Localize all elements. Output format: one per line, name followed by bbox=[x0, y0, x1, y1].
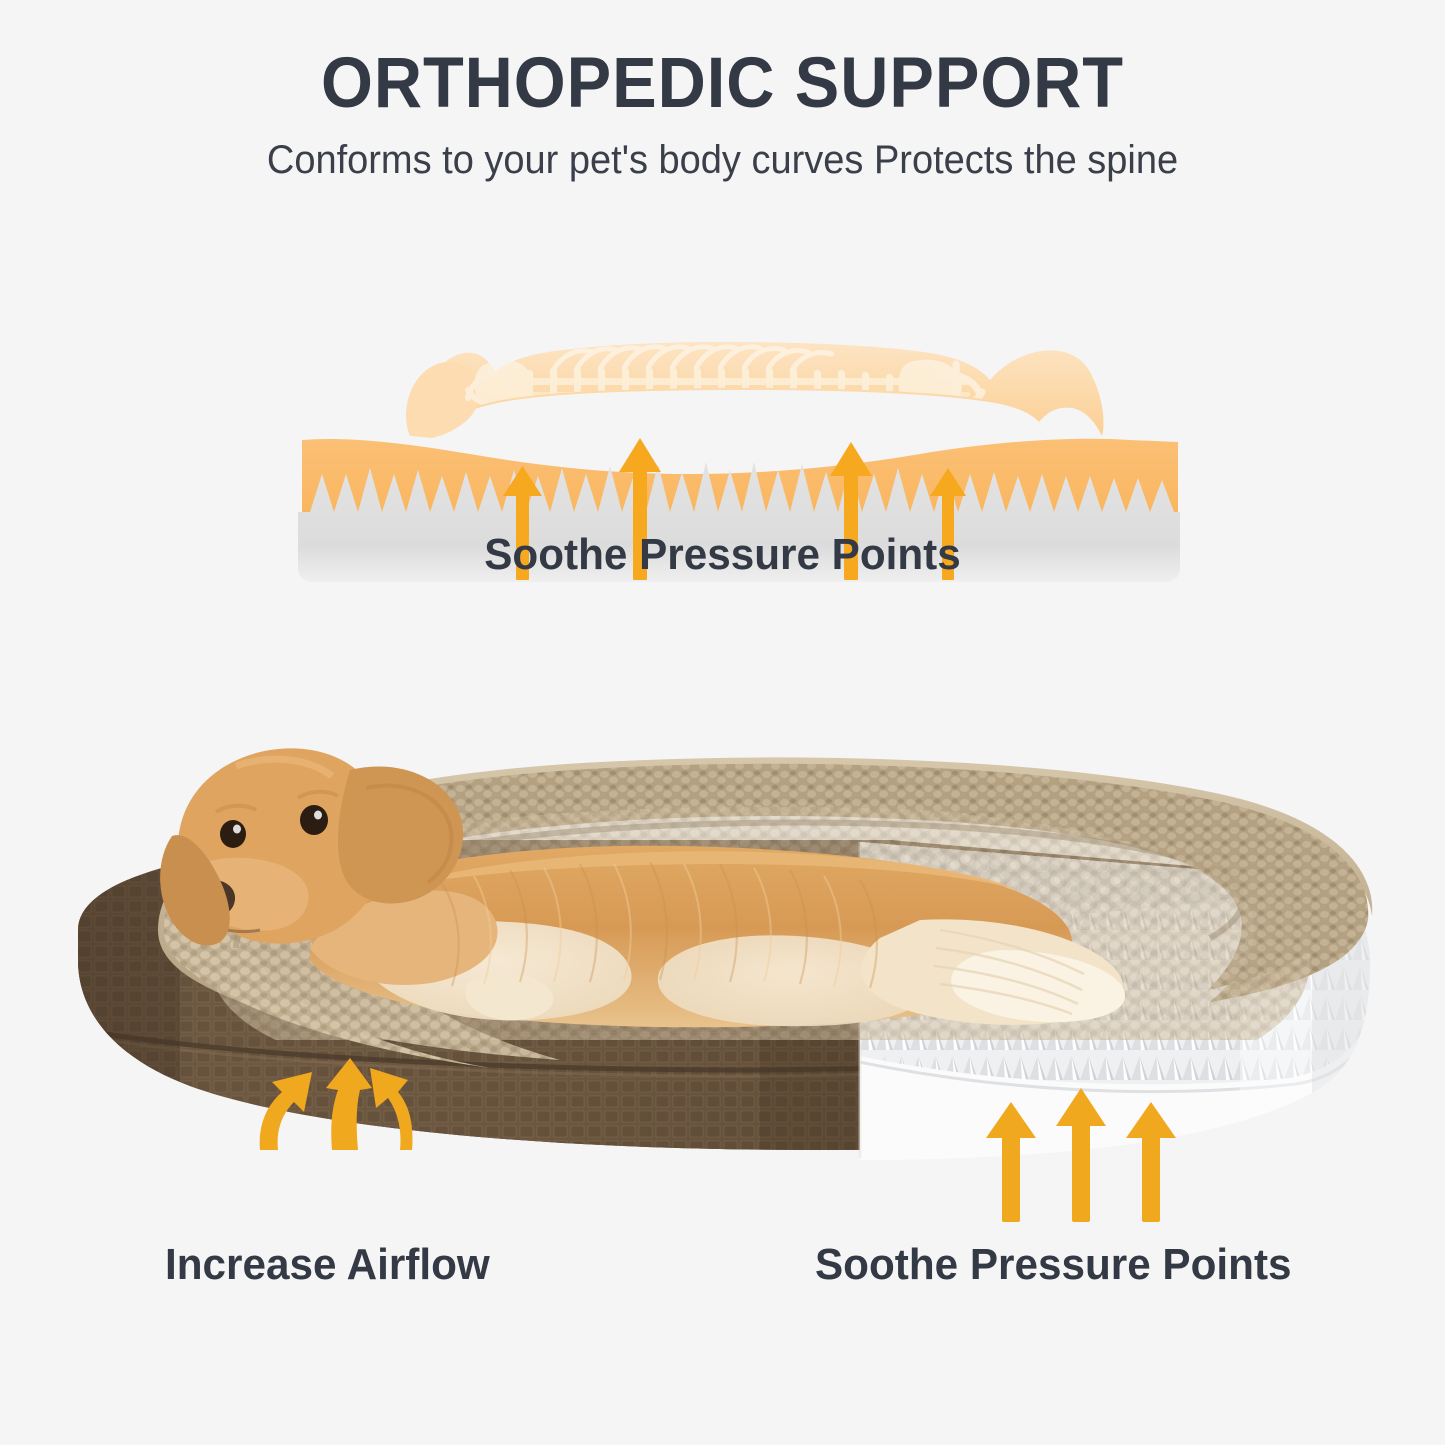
infographic-canvas: ORTHOPEDIC SUPPORT Conforms to your pet'… bbox=[0, 0, 1445, 1445]
pressure-arrows-product bbox=[986, 1088, 1176, 1222]
product-illustration bbox=[60, 630, 1390, 1270]
page-title: ORTHOPEDIC SUPPORT bbox=[43, 46, 1401, 121]
bottom-captions: Increase Airflow Soothe Pressure Points bbox=[0, 1240, 1445, 1310]
page-subtitle: Conforms to your pet's body curves Prote… bbox=[36, 138, 1409, 183]
caption-soothe-pressure-points: Soothe Pressure Points bbox=[815, 1240, 1292, 1290]
diagram-caption: Soothe Pressure Points bbox=[29, 530, 1416, 580]
caption-increase-airflow: Increase Airflow bbox=[165, 1240, 490, 1290]
header-block: ORTHOPEDIC SUPPORT Conforms to your pet'… bbox=[0, 46, 1445, 183]
